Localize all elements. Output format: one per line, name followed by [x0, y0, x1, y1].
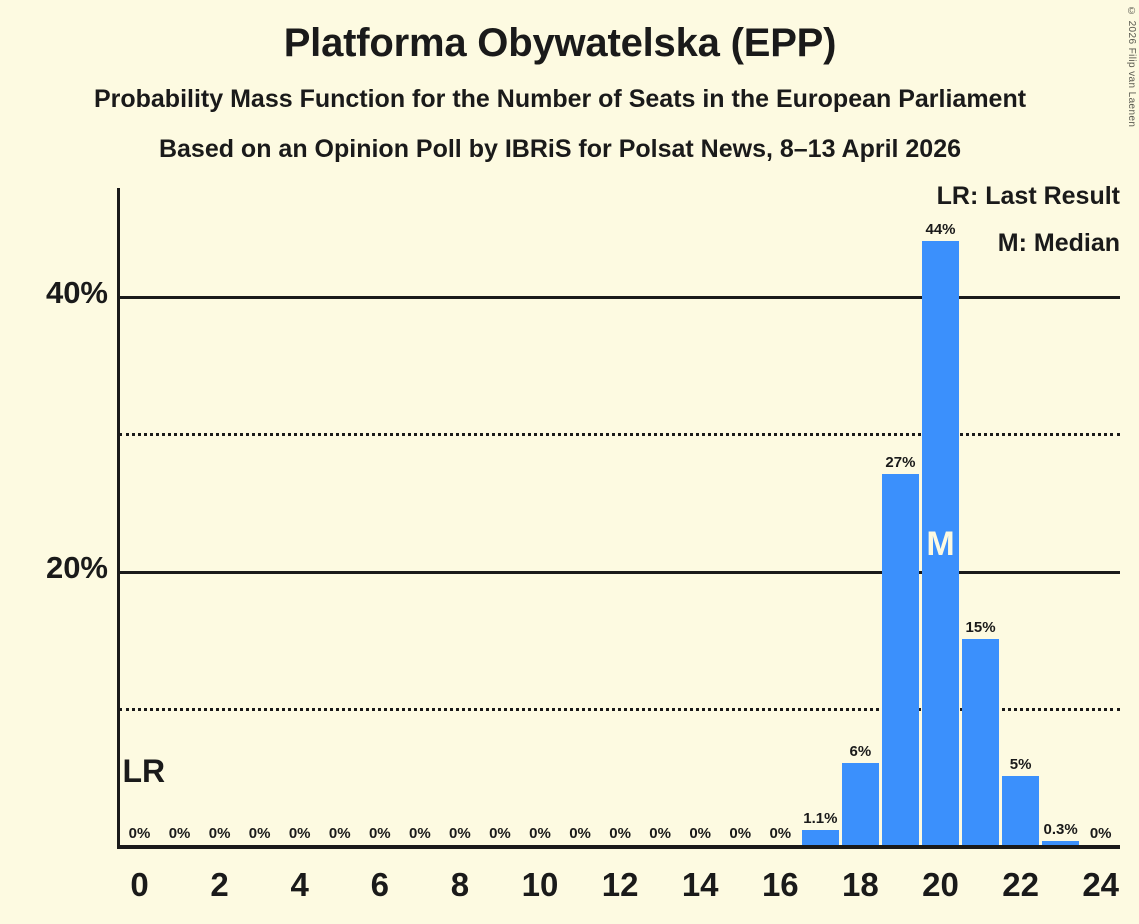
x-tick-label-24: 24 — [1061, 866, 1139, 904]
chart-subtitle: Probability Mass Function for the Number… — [0, 86, 1120, 112]
bar-seat-18 — [842, 763, 880, 845]
bar-value-label-seat-18: 6% — [830, 743, 890, 760]
bar-value-label-seat-24: 0% — [1071, 825, 1131, 842]
x-tick-label-12: 12 — [580, 866, 660, 904]
gridline-40pct — [119, 296, 1120, 299]
bar-value-label-seat-16: 0% — [750, 825, 810, 842]
x-tick-label-0: 0 — [100, 866, 180, 904]
bar-value-label-seat-17: 1.1% — [790, 810, 850, 827]
x-tick-label-14: 14 — [660, 866, 740, 904]
bar-value-label-seat-20: 44% — [911, 221, 971, 238]
x-tick-label-16: 16 — [740, 866, 820, 904]
last-result-marker: LR — [123, 753, 166, 790]
y-tick-label-40: 40% — [8, 275, 108, 311]
copyright-notice: © 2026 Filip van Laenen — [1126, 6, 1137, 127]
bar-seat-21 — [962, 639, 1000, 845]
x-tick-label-18: 18 — [820, 866, 900, 904]
gridline-30pct — [119, 433, 1120, 436]
x-tick-label-6: 6 — [340, 866, 420, 904]
y-tick-label-20: 20% — [8, 550, 108, 586]
x-tick-label-22: 22 — [981, 866, 1061, 904]
x-axis-line — [117, 845, 1120, 849]
bar-value-label-seat-19: 27% — [870, 454, 930, 471]
gridline-20pct — [119, 571, 1120, 574]
plot-area: 0%0%0%0%0%0%0%0%0%0%0%0%0%0%0%0%0%1.1%6%… — [119, 188, 1120, 845]
chart-source-note: Based on an Opinion Poll by IBRiS for Po… — [0, 136, 1120, 162]
bar-value-label-seat-22: 5% — [991, 756, 1051, 773]
median-marker: M — [911, 525, 971, 564]
x-tick-label-4: 4 — [260, 866, 340, 904]
x-tick-label-20: 20 — [901, 866, 981, 904]
x-tick-label-8: 8 — [420, 866, 500, 904]
x-tick-label-10: 10 — [500, 866, 580, 904]
x-tick-label-2: 2 — [180, 866, 260, 904]
chart-title: Platforma Obywatelska (EPP) — [0, 22, 1120, 64]
chart-container: Platforma Obywatelska (EPP) Probability … — [0, 0, 1139, 924]
bar-value-label-seat-21: 15% — [951, 619, 1011, 636]
